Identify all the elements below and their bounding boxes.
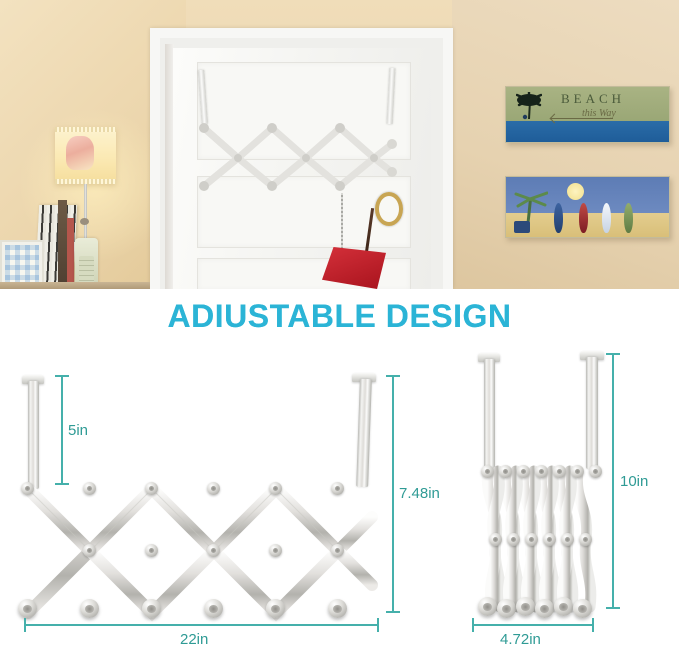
left-arrow-icon [551, 118, 613, 119]
lamp-shade-trim-top [55, 127, 116, 132]
coat-hook [204, 599, 223, 618]
pivot-rivet [207, 544, 220, 557]
pivot-rivet [535, 465, 548, 478]
beach-chair-icon [514, 221, 530, 233]
coat-hook [497, 599, 516, 618]
hanger-bar-right [586, 357, 598, 469]
lamp-switch [80, 218, 89, 225]
lifestyle-photo: BEACH this Way [0, 0, 679, 289]
pivot-rivet [331, 482, 344, 495]
pivot-rivet [481, 465, 494, 478]
dim-cap [386, 611, 400, 613]
pivot-rivet [525, 533, 538, 546]
photo-accordion-rack [196, 118, 401, 196]
lamp-shade-pattern [66, 136, 94, 170]
dim-cap [592, 618, 594, 632]
surfboard-icon [579, 203, 588, 233]
sun-icon [567, 183, 584, 200]
palm-tree-icon [516, 92, 542, 120]
book-dark [58, 200, 67, 289]
surfboards-art [505, 176, 670, 238]
dim-label-collapsed-height: 10in [620, 473, 648, 490]
pivot-rivet [499, 465, 512, 478]
desk-surface [0, 282, 150, 289]
beach-sign-art: BEACH this Way [505, 86, 670, 143]
coat-hook [142, 599, 161, 618]
expanded-rack-diagram: 5in 7.48in 22in [0, 289, 420, 667]
coat-hook [478, 597, 497, 616]
pivot-rivet [83, 482, 96, 495]
pivot-rivet [571, 465, 584, 478]
pivot-rivet [489, 533, 502, 546]
dim-label-rack-width: 22in [180, 631, 208, 648]
surfboard-icon [602, 203, 611, 233]
hanger-bar-left [28, 381, 39, 489]
beach-art-heading: BEACH [561, 91, 625, 107]
coat-hook [573, 599, 592, 618]
dim-line-hanger-height [61, 375, 63, 485]
pivot-rivet [21, 482, 34, 495]
hanger-bar-left [484, 359, 495, 469]
pivot-rivet [543, 533, 556, 546]
surfboard-icon [554, 203, 563, 233]
product-infographic: BEACH this Way [0, 0, 679, 667]
coat-hook [535, 599, 554, 618]
dim-line-collapsed-width [472, 624, 594, 626]
pivot-rivet [589, 465, 602, 478]
wall-right [452, 0, 679, 289]
coat-hook [516, 597, 535, 616]
gold-ring-hook [375, 192, 403, 226]
book-red [67, 218, 74, 289]
dim-line-rack-width [24, 624, 379, 626]
coat-hook [266, 599, 285, 618]
phone-keypad [79, 256, 94, 283]
coat-hook [554, 597, 573, 616]
pivot-rivet [331, 544, 344, 557]
dim-label-collapsed-width: 4.72in [500, 631, 541, 648]
coat-hook [80, 599, 99, 618]
pivot-rivet [207, 482, 220, 495]
pivot-rivet [579, 533, 592, 546]
pivot-rivet [269, 544, 282, 557]
pivot-rivet [145, 544, 158, 557]
pivot-rivet [553, 465, 566, 478]
diagram-section: ADIUSTABLE DESIGN [0, 289, 679, 667]
dim-line-rack-height [392, 375, 394, 613]
dim-cap [377, 618, 379, 632]
hanger-bar-right [356, 379, 372, 487]
pivot-rivet [269, 482, 282, 495]
pivot-rivet [83, 544, 96, 557]
pivot-rivet [517, 465, 530, 478]
pivot-rivet [145, 482, 158, 495]
pivot-rivet [561, 533, 574, 546]
surfboard-icon [624, 203, 633, 233]
coat-hook [18, 599, 37, 618]
dim-line-collapsed-height [612, 353, 614, 609]
coat-hook [328, 599, 347, 618]
pivot-rivet [507, 533, 520, 546]
dim-cap [55, 483, 69, 485]
dim-label-hanger-height: 5in [68, 422, 88, 439]
collapsed-rack-diagram: 10in 4.72in [420, 289, 679, 667]
dim-cap [606, 607, 620, 609]
